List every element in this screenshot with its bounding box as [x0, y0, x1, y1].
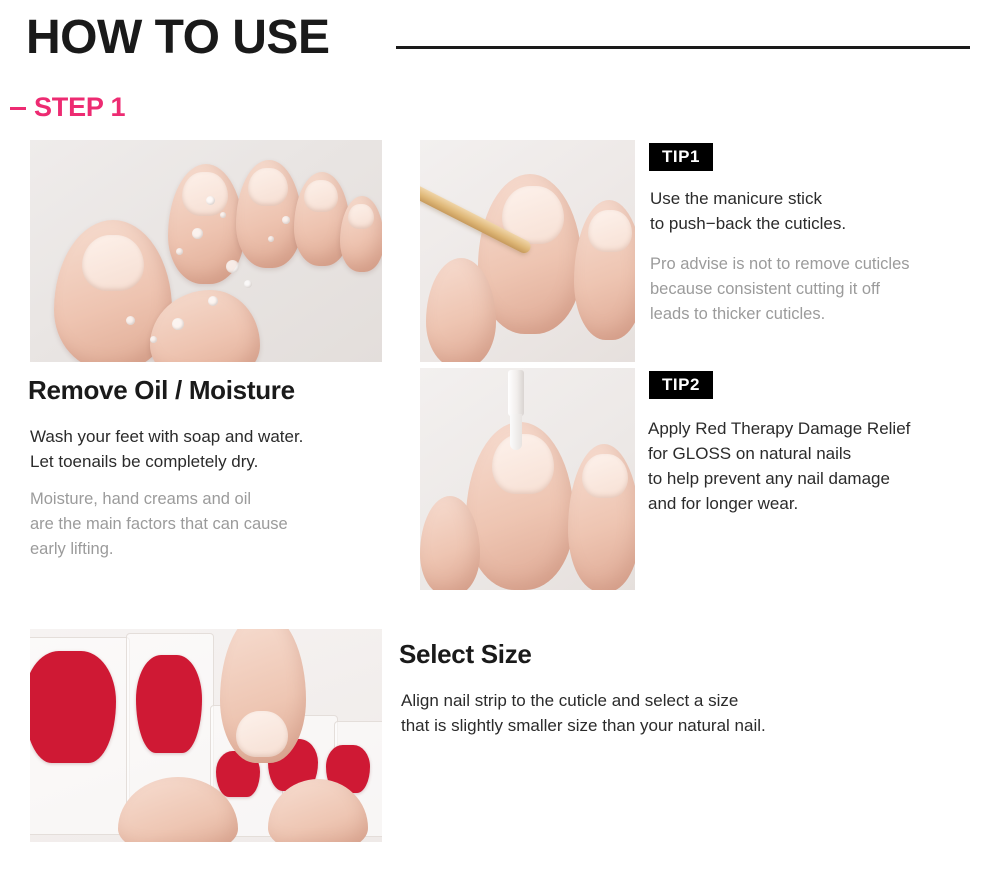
brush-handle-icon	[508, 370, 524, 416]
gloss-brush-photo	[420, 368, 635, 590]
select-size-body: Align nail strip to the cuticle and sele…	[401, 688, 831, 738]
step-label: STEP 1	[34, 92, 125, 123]
foot-washing-photo	[30, 140, 382, 362]
remove-oil-heading: Remove Oil / Moisture	[28, 375, 295, 406]
header-divider	[396, 46, 970, 49]
tip1-body: Use the manicure stick to push−back the …	[650, 186, 980, 236]
remove-oil-subtext: Moisture, hand creams and oil are the ma…	[30, 487, 380, 561]
tip1-subtext: Pro advise is not to remove cuticles bec…	[650, 252, 970, 326]
page-title: HOW TO USE	[26, 14, 329, 62]
tip2-body: Apply Red Therapy Damage Relief for GLOS…	[648, 416, 1000, 517]
select-size-photo	[30, 629, 382, 842]
remove-oil-body: Wash your feet with soap and water. Let …	[30, 424, 390, 474]
manicure-stick-photo	[420, 140, 635, 362]
tip2-badge: TIP2	[649, 371, 713, 399]
page-header: HOW TO USE	[0, 0, 1000, 92]
tip1-badge: TIP1	[649, 143, 713, 171]
step-indicator: STEP 1	[10, 92, 125, 123]
select-size-heading: Select Size	[399, 639, 532, 670]
brush-tip-icon	[510, 414, 522, 450]
step-dash-icon	[10, 107, 26, 110]
